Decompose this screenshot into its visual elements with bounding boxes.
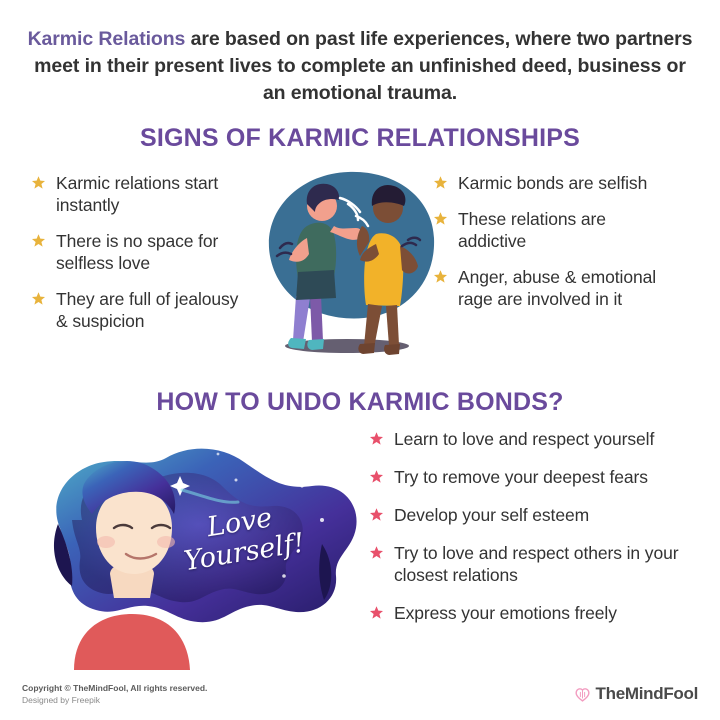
list-item: Learn to love and respect yourself — [368, 428, 688, 450]
brain-heart-icon — [574, 686, 591, 703]
infographic-page: Karmic Relations are based on past life … — [0, 0, 720, 720]
list-item-text: They are full of jealousy & suspicion — [56, 288, 245, 332]
list-item: Develop your self esteem — [368, 504, 688, 526]
pink-star-icon — [368, 507, 385, 524]
undo-list: Learn to love and respect yourself Try t… — [368, 428, 688, 640]
list-item: Karmic bonds are selfish — [432, 172, 657, 194]
signs-list-left: Karmic relations start instantly There i… — [30, 172, 245, 346]
list-item: They are full of jealousy & suspicion — [30, 288, 245, 332]
list-item-text: These relations are addictive — [458, 208, 657, 252]
list-item: There is no space for selfless love — [30, 230, 245, 274]
list-item-text: Try to love and respect others in your c… — [394, 542, 688, 586]
copyright-line: Copyright © TheMindFool, All rights rese… — [22, 682, 207, 694]
list-item: Express your emotions freely — [368, 602, 688, 624]
list-item: Karmic relations start instantly — [30, 172, 245, 216]
gold-star-icon — [30, 175, 47, 192]
section-title-undo: HOW TO UNDO KARMIC BONDS? — [0, 388, 720, 417]
gold-star-icon — [30, 291, 47, 308]
list-item-text: There is no space for selfless love — [56, 230, 245, 274]
list-item: Try to love and respect others in your c… — [368, 542, 688, 586]
list-item-text: Learn to love and respect yourself — [394, 428, 654, 450]
cosmic-hair-artwork — [22, 424, 362, 670]
list-item: These relations are addictive — [432, 208, 657, 252]
section-title-signs: SIGNS OF KARMIC RELATIONSHIPS — [0, 124, 720, 153]
designed-by-line: Designed by Freepik — [22, 694, 207, 706]
arguing-couple-illustration — [252, 160, 442, 360]
pink-star-icon — [368, 469, 385, 486]
pink-star-icon — [368, 605, 385, 622]
list-item-text: Karmic bonds are selfish — [458, 172, 647, 194]
gold-star-icon — [30, 233, 47, 250]
brand-name-text: TheMindFool — [596, 684, 698, 704]
list-item-text: Anger, abuse & emotional rage are involv… — [458, 266, 657, 310]
signs-list-right: Karmic bonds are selfish These relations… — [432, 172, 657, 324]
brand-logo[interactable]: TheMindFool — [574, 684, 698, 704]
pink-star-icon — [368, 545, 385, 562]
list-item-text: Karmic relations start instantly — [56, 172, 245, 216]
list-item-text: Express your emotions freely — [394, 602, 617, 624]
list-item-text: Develop your self esteem — [394, 504, 589, 526]
list-item-text: Try to remove your deepest fears — [394, 466, 648, 488]
love-yourself-illustration: Love Yourself! — [22, 424, 362, 670]
intro-highlight: Karmic Relations — [28, 28, 186, 50]
intro-paragraph: Karmic Relations are based on past life … — [22, 26, 698, 107]
footer-copyright: Copyright © TheMindFool, All rights rese… — [22, 682, 207, 706]
list-item: Anger, abuse & emotional rage are involv… — [432, 266, 657, 310]
pink-star-icon — [368, 431, 385, 448]
list-item: Try to remove your deepest fears — [368, 466, 688, 488]
